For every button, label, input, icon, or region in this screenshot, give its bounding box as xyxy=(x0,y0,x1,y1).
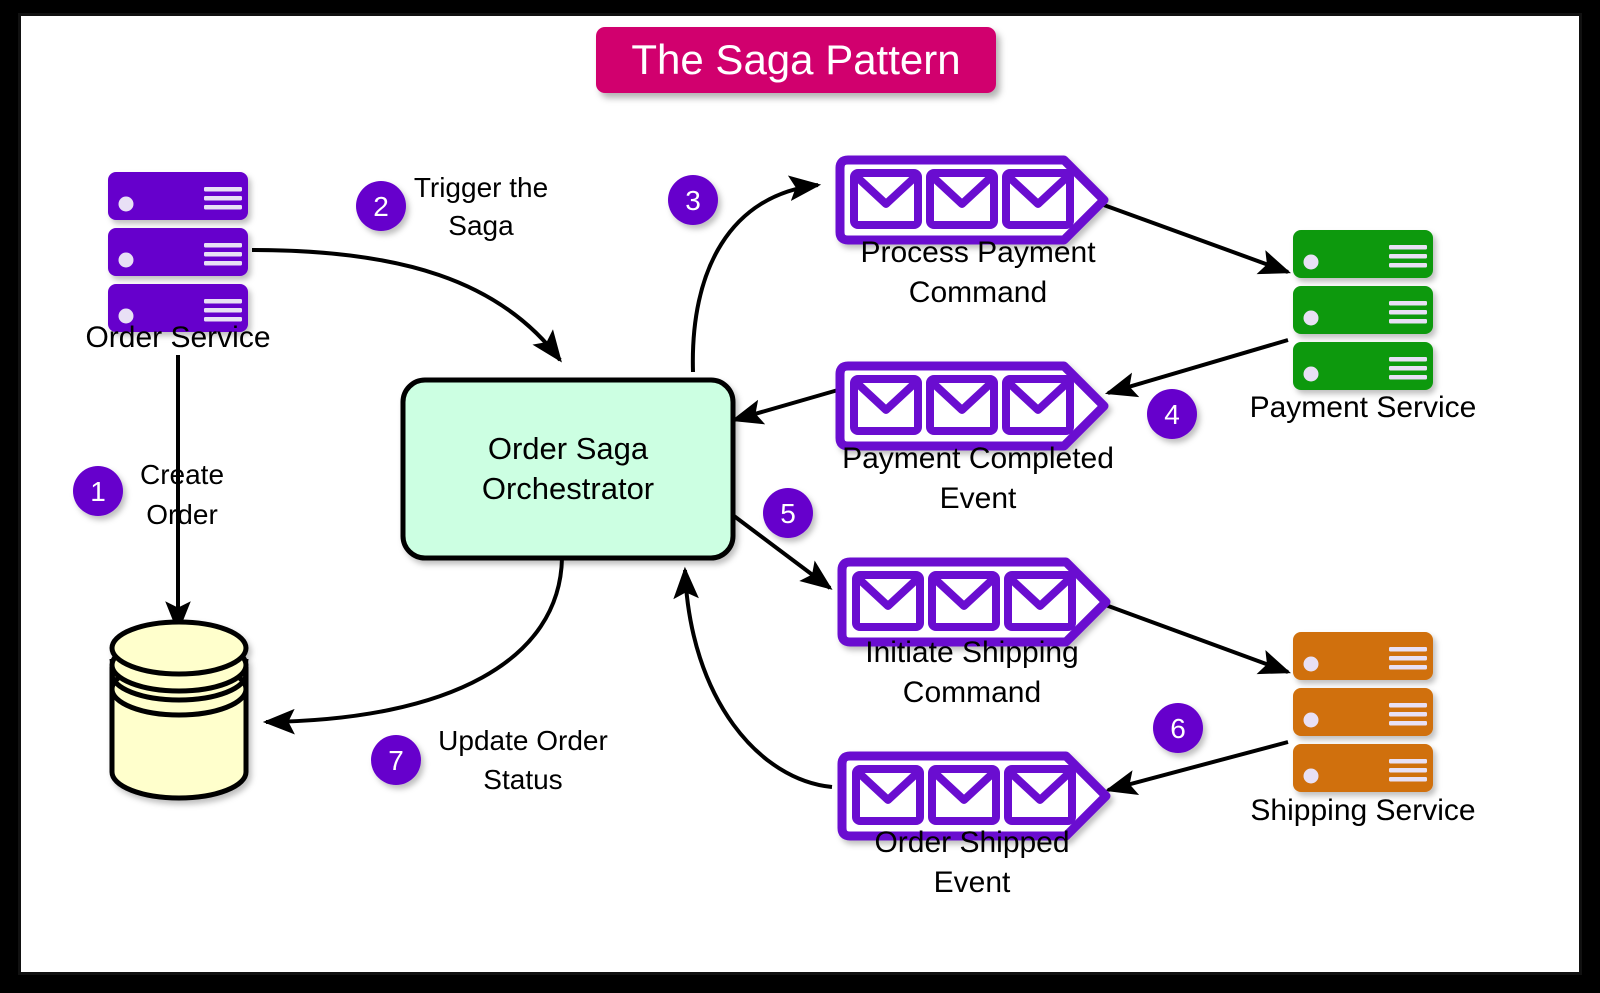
badge-number: 1 xyxy=(90,476,106,507)
step-label-1: Create Order xyxy=(140,459,224,530)
message-queue-icon xyxy=(840,366,1104,446)
order-service-label: Order Service xyxy=(85,321,270,354)
node-shipping-service[interactable]: Shipping Service xyxy=(1250,632,1475,827)
database-cylinder-icon xyxy=(112,622,246,798)
node-orchestrator[interactable]: Order Saga Orchestrator xyxy=(403,380,733,558)
badge-number: 6 xyxy=(1170,713,1186,744)
edge-shipping-service-in xyxy=(1092,600,1288,672)
server-stack-icon xyxy=(108,172,248,332)
step-badge-7[interactable]: 7 xyxy=(371,735,421,785)
title-text: The Saga Pattern xyxy=(631,36,960,83)
queue-label-line1: Initiate Shipping xyxy=(865,636,1079,669)
edge-payment-completed-event xyxy=(1108,340,1288,393)
step-badge-5[interactable]: 5 xyxy=(763,488,813,538)
queue-label-line2: Event xyxy=(940,482,1017,515)
badge-number: 7 xyxy=(388,745,404,776)
step-label-line2: Saga xyxy=(448,210,514,241)
message-queue-icon xyxy=(842,562,1106,642)
queue-label-line2: Event xyxy=(934,866,1011,899)
shipping-service-label: Shipping Service xyxy=(1250,794,1475,827)
badge-number: 5 xyxy=(780,498,796,529)
step-badge-1[interactable]: 1 xyxy=(73,466,123,516)
orchestrator-line2: Orchestrator xyxy=(482,471,654,506)
orchestrator-line1: Order Saga xyxy=(488,431,649,466)
node-order-service[interactable]: Order Service xyxy=(85,172,270,354)
step-label-2: Trigger the Saga xyxy=(414,172,548,241)
step-label-line1: Update Order xyxy=(438,725,608,756)
queue-label-line2: Command xyxy=(903,676,1041,709)
step-badge-4[interactable]: 4 xyxy=(1147,389,1197,439)
step-badge-2[interactable]: 2 xyxy=(356,181,406,231)
step-label-line2: Status xyxy=(483,764,562,795)
node-payment-service[interactable]: Payment Service xyxy=(1250,230,1477,424)
step-label-line2: Order xyxy=(146,499,218,530)
step-badge-3[interactable]: 3 xyxy=(668,175,718,225)
message-queue-icon xyxy=(840,160,1104,240)
screenshot-root: The Saga Pattern xyxy=(0,0,1600,993)
saga-pattern-diagram: The Saga Pattern xyxy=(0,0,1600,993)
step-label-line1: Create xyxy=(140,459,224,490)
edge-update-order-status xyxy=(266,558,562,722)
orchestrator-box xyxy=(403,380,733,558)
badge-number: 4 xyxy=(1164,399,1180,430)
diagram-title: The Saga Pattern xyxy=(596,27,996,93)
step-label-line1: Trigger the xyxy=(414,172,548,203)
queue-label-line1: Order Shipped xyxy=(874,826,1069,859)
edge-trigger-saga xyxy=(252,250,560,360)
edge-orchestrator-in-payment xyxy=(734,390,838,420)
queue-label-line1: Payment Completed xyxy=(842,442,1114,475)
edge-orchestrator-in-shipped xyxy=(685,570,832,787)
queue-initiate-shipping-command[interactable]: Initiate Shipping Command xyxy=(842,562,1106,709)
queue-process-payment-command[interactable]: Process Payment Command xyxy=(840,160,1104,309)
queue-label-line1: Process Payment xyxy=(860,236,1096,269)
queue-order-shipped-event[interactable]: Order Shipped Event xyxy=(842,756,1106,899)
badge-number: 3 xyxy=(685,185,701,216)
step-label-7: Update Order Status xyxy=(438,725,608,795)
queue-label-line2: Command xyxy=(909,276,1047,309)
payment-service-label: Payment Service xyxy=(1250,391,1477,424)
node-database[interactable] xyxy=(112,622,246,798)
server-stack-icon xyxy=(1293,632,1433,792)
edge-order-shipped-event xyxy=(1108,742,1288,790)
step-badge-6[interactable]: 6 xyxy=(1153,703,1203,753)
message-queue-icon xyxy=(842,756,1106,836)
edge-payment-service-in xyxy=(1090,200,1288,272)
badge-number: 2 xyxy=(373,191,389,222)
queue-payment-completed-event[interactable]: Payment Completed Event xyxy=(840,366,1114,515)
server-stack-icon xyxy=(1293,230,1433,390)
